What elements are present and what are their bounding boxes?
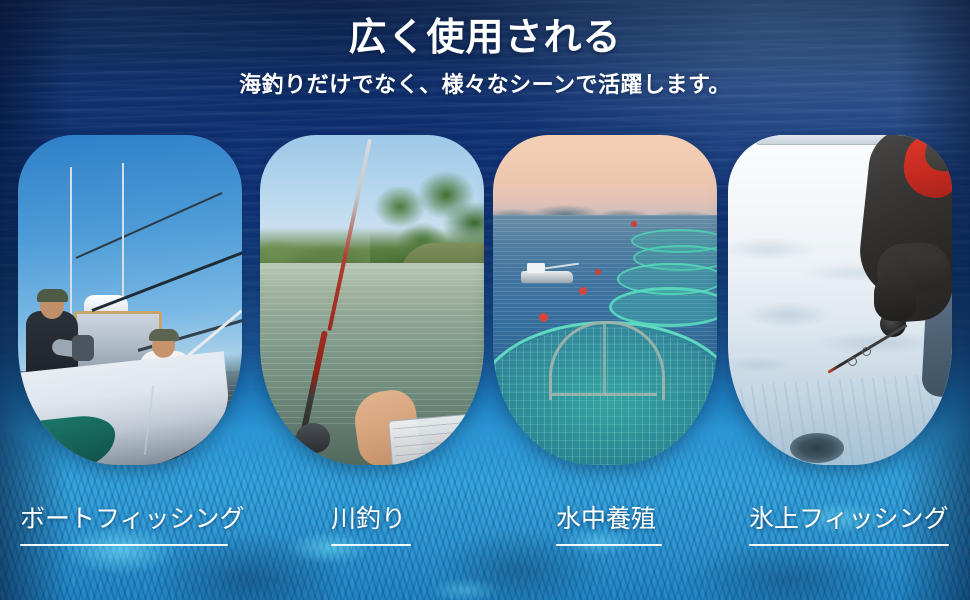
caption-underline: [749, 544, 949, 546]
caption-underline: [331, 544, 411, 546]
caption-underwater-aquaculture: 水中養殖: [556, 506, 662, 546]
caption-ice-fishing: 氷上フィッシング: [749, 506, 949, 546]
caption-underline: [556, 544, 662, 546]
caption-label: 川釣り: [331, 506, 411, 531]
caption-label: ボートフィッシング: [20, 506, 245, 531]
caption-list: ボートフィッシング 川釣り 水中養殖 氷上フィッシング: [0, 0, 970, 600]
promo-banner: 広く使用される 海釣りだけでなく、様々なシーンで活躍します。: [0, 0, 970, 600]
caption-boat-fishing: ボートフィッシング: [20, 506, 245, 546]
caption-label: 氷上フィッシング: [749, 506, 949, 531]
caption-river-fishing: 川釣り: [331, 506, 411, 546]
caption-underline: [20, 544, 228, 546]
caption-label: 水中養殖: [556, 506, 662, 531]
